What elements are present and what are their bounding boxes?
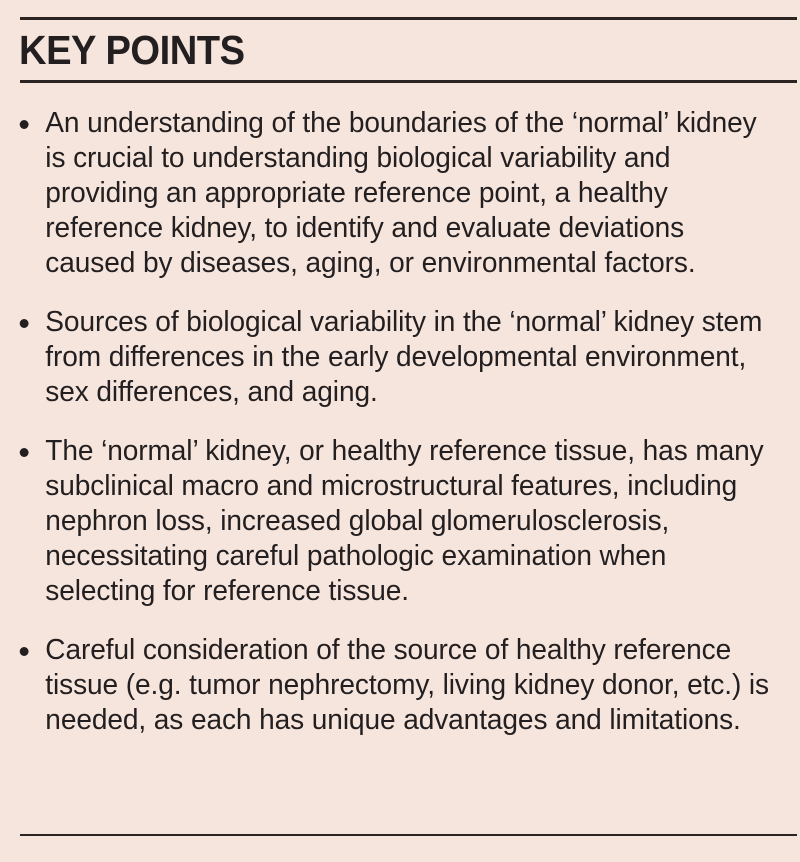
bullet-icon [20, 448, 29, 457]
list-item-text: Sources of biological variability in the… [45, 305, 774, 410]
divider-bottom [20, 834, 797, 836]
list-item-text: The ‘normal’ kidney, or healthy referenc… [45, 434, 774, 609]
list-item: Careful consideration of the source of h… [0, 633, 788, 738]
bullet-icon [20, 647, 29, 656]
list-item: An understanding of the boundaries of th… [0, 106, 788, 281]
divider-under-title [20, 80, 797, 83]
list-item: Sources of biological variability in the… [0, 305, 788, 410]
key-points-list: An understanding of the boundaries of th… [0, 106, 800, 738]
bullet-icon [20, 319, 29, 328]
page-title: KEY POINTS [19, 26, 245, 74]
list-item: The ‘normal’ kidney, or healthy referenc… [0, 434, 788, 609]
divider-top [20, 17, 797, 20]
list-item-text: An understanding of the boundaries of th… [45, 106, 774, 281]
key-points-panel: KEY POINTS An understanding of the bound… [0, 0, 800, 862]
list-item-text: Careful consideration of the source of h… [45, 633, 774, 738]
bullet-icon [20, 120, 29, 129]
